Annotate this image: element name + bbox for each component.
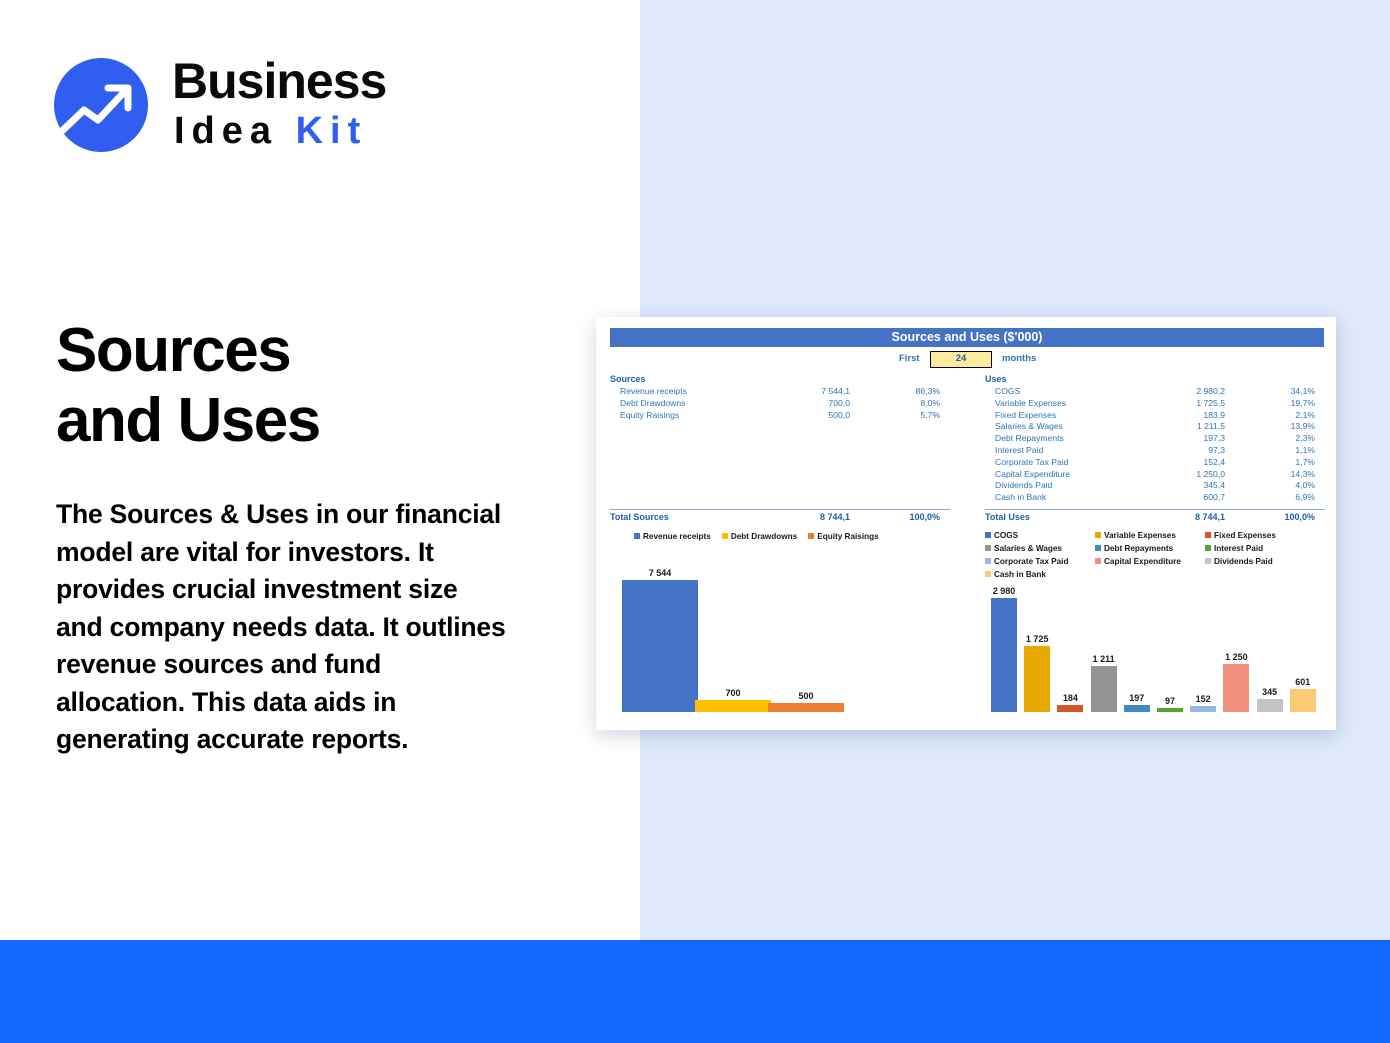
table-row: COGS2 980,234,1% xyxy=(985,386,1325,398)
sources-plot-area: 7 544700500 xyxy=(610,555,940,730)
legend-label: Variable Expenses xyxy=(1104,531,1176,540)
logo-wordmark-line1: Business xyxy=(172,52,386,110)
bar xyxy=(1190,706,1216,712)
legend-row: Revenue receiptsDebt DrawdownsEquity Rai… xyxy=(634,532,934,541)
sources-chart-legend: Revenue receiptsDebt DrawdownsEquity Rai… xyxy=(634,532,934,541)
table-row: Cash in Bank600,76,9% xyxy=(985,492,1325,504)
sources-total-label: Total Sources xyxy=(610,510,669,524)
legend-item: Salaries & Wages xyxy=(985,544,1095,553)
row-percent: 86,3% xyxy=(860,386,940,398)
bar xyxy=(991,598,1017,712)
row-percent: 34,1% xyxy=(1235,386,1315,398)
row-value: 600,7 xyxy=(1135,492,1225,504)
bar xyxy=(1223,664,1249,712)
row-percent: 2,3% xyxy=(1235,433,1315,445)
row-label: Corporate Tax Paid xyxy=(995,457,1068,469)
bar-value-label: 1 250 xyxy=(1215,652,1257,662)
table-row: Dividends Paid345,44,0% xyxy=(985,480,1325,492)
sources-total-value: 8 744,1 xyxy=(760,510,850,524)
logo-word-kit: Kit xyxy=(296,110,368,152)
legend-item: Fixed Expenses xyxy=(1205,531,1315,540)
period-unit-label: months xyxy=(1002,353,1036,364)
logo-wordmark-line2: Idea Kit xyxy=(174,108,367,154)
legend-item: Debt Drawdowns xyxy=(722,532,797,541)
table-row: Revenue receipts7 544,186,3% xyxy=(610,386,950,398)
legend-label: Salaries & Wages xyxy=(994,544,1062,553)
sources-header: Sources xyxy=(610,373,950,386)
bar xyxy=(1124,705,1150,713)
legend-swatch-icon xyxy=(634,533,640,539)
row-label: Salaries & Wages xyxy=(995,421,1063,433)
row-percent: 1,1% xyxy=(1235,445,1315,457)
legend-swatch-icon xyxy=(1205,545,1211,551)
legend-label: Interest Paid xyxy=(1214,544,1263,553)
row-value: 1 725,5 xyxy=(1135,398,1225,410)
logo-word-idea: Idea xyxy=(174,110,296,152)
row-value: 97,3 xyxy=(1135,445,1225,457)
row-label: Interest Paid xyxy=(995,445,1043,457)
bar xyxy=(1290,689,1316,712)
legend-item: COGS xyxy=(985,531,1095,540)
uses-rows: COGS2 980,234,1%Variable Expenses1 725,5… xyxy=(985,386,1325,504)
row-value: 152,4 xyxy=(1135,457,1225,469)
row-label: Debt Repayments xyxy=(995,433,1064,445)
uses-plot-area: 2 9801 7251841 211197971521 250345601 xyxy=(985,555,1330,730)
sources-total-pct: 100,0% xyxy=(860,510,940,524)
bar-value-label: 2 980 xyxy=(983,586,1025,596)
uses-header: Uses xyxy=(985,373,1325,386)
legend-swatch-icon xyxy=(1095,545,1101,551)
row-percent: 6,9% xyxy=(1235,492,1315,504)
row-label: Fixed Expenses xyxy=(995,410,1056,422)
period-prefix-label: First xyxy=(899,353,920,364)
bar-value-label: 1 725 xyxy=(1016,634,1058,644)
bar xyxy=(1057,705,1083,712)
period-months-input[interactable]: 24 xyxy=(930,351,992,368)
legend-swatch-icon xyxy=(1095,532,1101,538)
footer-bar xyxy=(0,940,1390,1043)
legend-label: Equity Raisings xyxy=(817,532,878,541)
row-percent: 2,1% xyxy=(1235,410,1315,422)
bar xyxy=(1024,646,1050,712)
row-percent: 19,7% xyxy=(1235,398,1315,410)
bar-value-label: 500 xyxy=(760,691,852,701)
period-selector-row: First 24 months xyxy=(610,351,1324,367)
uses-total-label: Total Uses xyxy=(985,510,1030,524)
uses-total-pct: 100,0% xyxy=(1235,510,1315,524)
bar-value-label: 1 211 xyxy=(1083,654,1125,664)
row-percent: 1,7% xyxy=(1235,457,1315,469)
row-label: Capital Expenditure xyxy=(995,469,1070,481)
row-value: 700,0 xyxy=(760,398,850,410)
uses-total-row: Total Uses 8 744,1 100,0% xyxy=(985,509,1325,524)
legend-item: Debt Repayments xyxy=(1095,544,1205,553)
bar xyxy=(695,700,771,712)
bar-value-label: 345 xyxy=(1249,687,1291,697)
table-row: Interest Paid97,31,1% xyxy=(985,445,1325,457)
row-value: 345,4 xyxy=(1135,480,1225,492)
row-percent: 8,0% xyxy=(860,398,940,410)
row-value: 183,9 xyxy=(1135,410,1225,422)
row-label: Variable Expenses xyxy=(995,398,1066,410)
table-row: Equity Raisings500,05,7% xyxy=(610,410,950,422)
bar-value-label: 152 xyxy=(1182,694,1224,704)
sources-bar-chart: 7 544700500 xyxy=(610,555,940,730)
row-label: Cash in Bank xyxy=(995,492,1046,504)
row-label: Revenue receipts xyxy=(620,386,687,398)
row-value: 1 250,0 xyxy=(1135,469,1225,481)
legend-label: COGS xyxy=(994,531,1018,540)
brand-logo: Business Idea Kit xyxy=(54,52,454,158)
uses-table: Uses COGS2 980,234,1%Variable Expenses1 … xyxy=(985,373,1325,504)
page-title: Sourcesand Uses xyxy=(56,316,596,456)
legend-item: Equity Raisings xyxy=(808,532,878,541)
uses-total-value: 8 744,1 xyxy=(1135,510,1225,524)
sources-and-uses-card: Sources and Uses ($'000) First 24 months… xyxy=(596,317,1336,730)
legend-swatch-icon xyxy=(985,545,991,551)
table-row: Variable Expenses1 725,519,7% xyxy=(985,398,1325,410)
row-value: 2 980,2 xyxy=(1135,386,1225,398)
uses-bar-chart: 2 9801 7251841 211197971521 250345601 xyxy=(985,555,1330,730)
legend-item: Interest Paid xyxy=(1205,544,1315,553)
sources-total-row: Total Sources 8 744,1 100,0% xyxy=(610,509,950,524)
bar xyxy=(1157,708,1183,712)
trending-up-arrow-icon xyxy=(54,58,148,152)
page-description: The Sources & Uses in our financial mode… xyxy=(56,496,506,759)
table-row: Capital Expenditure1 250,014,3% xyxy=(985,469,1325,481)
legend-swatch-icon xyxy=(1205,532,1211,538)
legend-label: Debt Drawdowns xyxy=(731,532,797,541)
row-percent: 5,7% xyxy=(860,410,940,422)
legend-swatch-icon xyxy=(722,533,728,539)
legend-label: Fixed Expenses xyxy=(1214,531,1276,540)
table-row: Debt Repayments197,32,3% xyxy=(985,433,1325,445)
table-row: Salaries & Wages1 211,513,9% xyxy=(985,421,1325,433)
bar xyxy=(1091,666,1117,712)
row-label: Dividends Paid xyxy=(995,480,1052,492)
row-percent: 4,0% xyxy=(1235,480,1315,492)
table-row: Corporate Tax Paid152,41,7% xyxy=(985,457,1325,469)
legend-label: Revenue receipts xyxy=(643,532,711,541)
row-label: Debt Drawdowns xyxy=(620,398,685,410)
legend-label: Debt Repayments xyxy=(1104,544,1173,553)
bar xyxy=(1257,699,1283,712)
row-label: COGS xyxy=(995,386,1020,398)
row-value: 197,3 xyxy=(1135,433,1225,445)
sources-table: Sources Revenue receipts7 544,186,3%Debt… xyxy=(610,373,950,421)
row-percent: 13,9% xyxy=(1235,421,1315,433)
table-row: Debt Drawdowns700,08,0% xyxy=(610,398,950,410)
sheet-title: Sources and Uses ($'000) xyxy=(610,328,1324,347)
row-value: 7 544,1 xyxy=(760,386,850,398)
row-label: Equity Raisings xyxy=(620,410,679,422)
legend-row: COGSVariable ExpensesFixed Expenses xyxy=(985,531,1330,544)
row-percent: 14,3% xyxy=(1235,469,1315,481)
legend-swatch-icon xyxy=(985,532,991,538)
bar xyxy=(768,703,844,712)
bar-value-label: 7 544 xyxy=(614,568,706,578)
legend-swatch-icon xyxy=(808,533,814,539)
row-value: 500,0 xyxy=(760,410,850,422)
sources-rows: Revenue receipts7 544,186,3%Debt Drawdow… xyxy=(610,386,950,421)
legend-item: Revenue receipts xyxy=(634,532,711,541)
bar-value-label: 184 xyxy=(1049,693,1091,703)
row-value: 1 211,5 xyxy=(1135,421,1225,433)
legend-item: Variable Expenses xyxy=(1095,531,1205,540)
bar-value-label: 601 xyxy=(1282,677,1324,687)
table-row: Fixed Expenses183,92,1% xyxy=(985,410,1325,422)
